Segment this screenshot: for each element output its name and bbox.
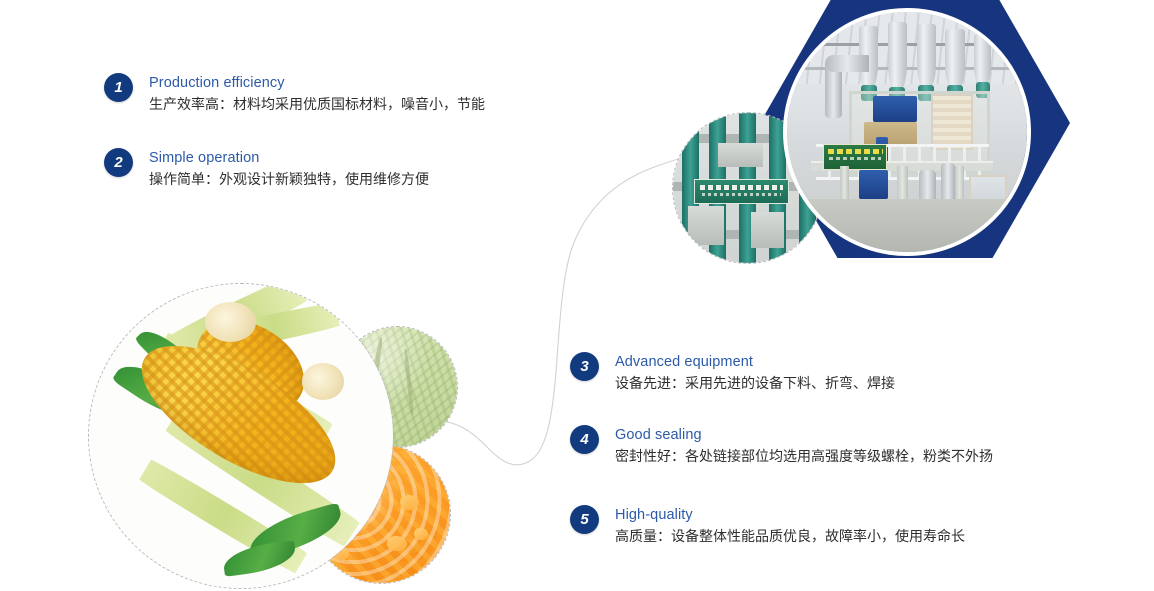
feature-item-4[interactable]: 4 Good sealing 密封性好：各处链接部位均选用高强度等级螺栓，粉类不… bbox=[570, 425, 993, 468]
feature-title-en-2: Simple operation bbox=[149, 149, 429, 168]
feature-title-cn-3: 设备先进：采用先进的设备下料、折弯、焊接 bbox=[615, 374, 895, 395]
feature-title-en-4: Good sealing bbox=[615, 426, 993, 445]
feature-badge-1: 1 bbox=[104, 73, 133, 102]
feature-item-3[interactable]: 3 Advanced equipment 设备先进：采用先进的设备下料、折弯、焊… bbox=[570, 352, 895, 395]
fresh-corn-cobs-photo bbox=[88, 283, 394, 589]
feature-infographic: 1 Production efficiency 生产效率高：材料均采用优质国标材… bbox=[0, 0, 1154, 591]
feature-badge-3: 3 bbox=[570, 352, 599, 381]
feature-title-cn-5: 高质量：设备整体性能品质优良，故障率小，使用寿命长 bbox=[615, 527, 965, 548]
feature-badge-2: 2 bbox=[104, 148, 133, 177]
feature-title-cn-4: 密封性好：各处链接部位均选用高强度等级螺栓，粉类不外扬 bbox=[615, 447, 993, 468]
feature-title-cn-2: 操作简单：外观设计新颖独特，使用维修方便 bbox=[149, 170, 429, 191]
flour-milling-plant-photo bbox=[783, 8, 1031, 256]
feature-title-en-5: High-quality bbox=[615, 506, 965, 525]
feature-badge-5: 5 bbox=[570, 505, 599, 534]
feature-title-en-1: Production efficiency bbox=[149, 74, 485, 93]
feature-item-2[interactable]: 2 Simple operation 操作简单：外观设计新颖独特，使用维修方便 bbox=[104, 148, 429, 191]
feature-badge-4: 4 bbox=[570, 425, 599, 454]
feature-title-en-3: Advanced equipment bbox=[615, 353, 895, 372]
feature-item-5[interactable]: 5 High-quality 高质量：设备整体性能品质优良，故障率小，使用寿命长 bbox=[570, 505, 965, 548]
feature-title-cn-1: 生产效率高：材料均采用优质国标材料，噪音小，节能 bbox=[149, 95, 485, 116]
feature-item-1[interactable]: 1 Production efficiency 生产效率高：材料均采用优质国标材… bbox=[104, 73, 485, 116]
